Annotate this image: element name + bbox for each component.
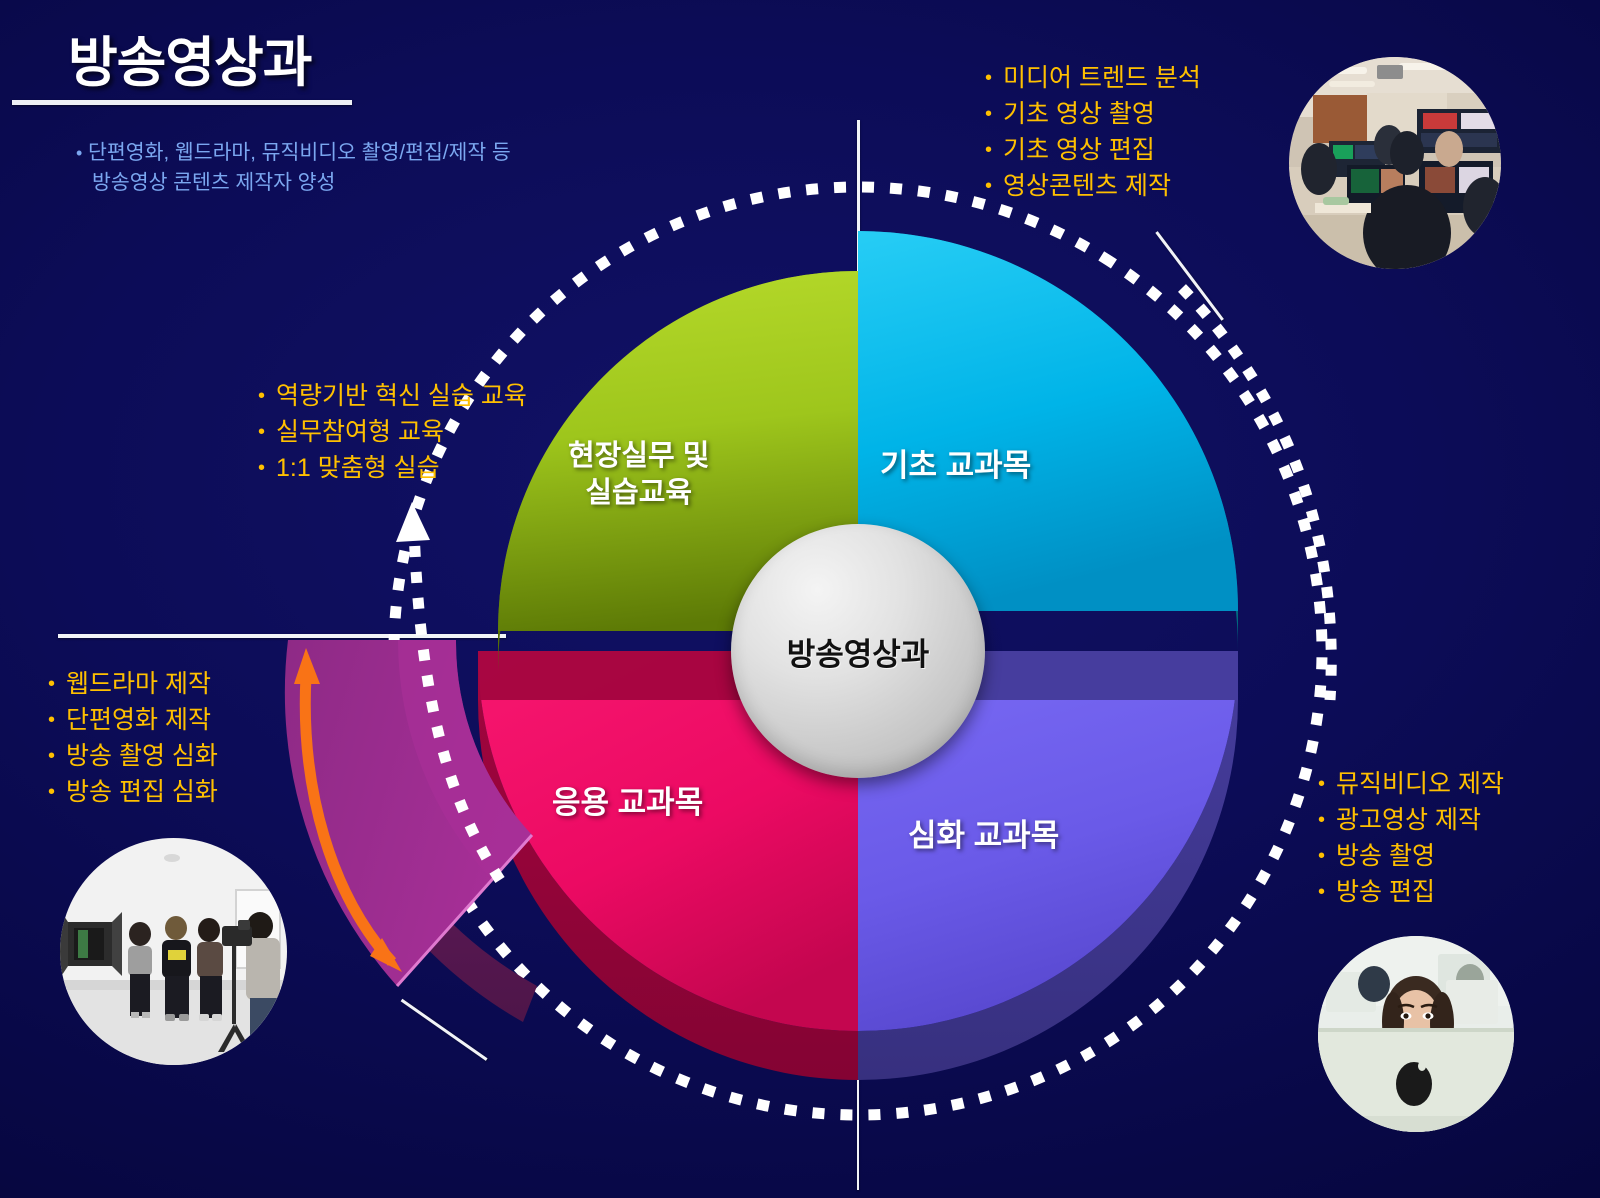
pie-center-hub: 방송영상과	[731, 524, 985, 778]
list-item: •방송 편집 심화	[48, 774, 218, 810]
bullet-icon: •	[985, 172, 1003, 201]
bullet-icon: •	[258, 454, 276, 483]
list-item: •광고영상 제작	[1318, 802, 1504, 838]
bullet-icon: •	[1318, 770, 1336, 799]
list-item: •방송 편집	[1318, 874, 1504, 910]
bullet-icon: •	[985, 64, 1003, 93]
bullet-icon: •	[48, 670, 66, 699]
list-item: •웹드라마 제작	[48, 666, 218, 702]
bullet-icon: •	[1318, 806, 1336, 835]
slice-label-field-line1: 현장실무 및	[568, 440, 709, 472]
bullet-icon: •	[1318, 842, 1336, 871]
bullet-icon: •	[1318, 878, 1336, 907]
list-item-label: 영상콘텐츠 제작	[1003, 172, 1171, 200]
list-item-label: 1:1 맞춤형 실습	[276, 454, 440, 482]
list-item-label: 방송 편집	[1336, 878, 1435, 906]
list-item: •미디어 트렌드 분석	[985, 60, 1201, 96]
slice-label-advanced: 심화 교과목	[908, 810, 1059, 855]
list-item: •기초 영상 편집	[985, 132, 1201, 168]
list-item-label: 역량기반 혁신 실습 교육	[276, 382, 527, 410]
bullet-list-advanced: •뮤직비디오 제작 •광고영상 제작 •방송 촬영 •방송 편집	[1318, 766, 1504, 910]
list-item-label: 광고영상 제작	[1336, 806, 1481, 834]
list-item: •영상콘텐츠 제작	[985, 168, 1201, 204]
editing-lab-photo	[1289, 57, 1501, 269]
list-item-label: 미디어 트렌드 분석	[1003, 64, 1201, 92]
list-item: •방송 촬영 심화	[48, 738, 218, 774]
studio-shoot-photo	[60, 838, 287, 1065]
editing-lab-photo-art	[1289, 57, 1501, 269]
list-item-label: 방송 촬영 심화	[66, 742, 218, 770]
studio-shoot-photo-art	[60, 838, 287, 1065]
list-item-label: 기초 영상 촬영	[1003, 100, 1155, 128]
bullet-list-field: •역량기반 혁신 실습 교육 •실무참여형 교육 •1:1 맞춤형 실습	[258, 378, 527, 486]
list-item-label: 웹드라마 제작	[66, 670, 211, 698]
list-item: •역량기반 혁신 실습 교육	[258, 378, 527, 414]
list-item: •실무참여형 교육	[258, 414, 527, 450]
list-item: •단편영화 제작	[48, 702, 218, 738]
list-item: •뮤직비디오 제작	[1318, 766, 1504, 802]
slide-canvas: 방송영상과 • 단편영화, 웹드라마, 뮤직비디오 촬영/편집/제작 등 방송영…	[0, 0, 1600, 1198]
bullet-icon: •	[985, 136, 1003, 165]
bullet-list-basic: •미디어 트렌드 분석 •기초 영상 촬영 •기초 영상 편집 •영상콘텐츠 제…	[985, 60, 1201, 204]
bullet-icon: •	[258, 382, 276, 411]
list-item-label: 방송 촬영	[1336, 842, 1435, 870]
list-item: •기초 영상 촬영	[985, 96, 1201, 132]
list-item: •1:1 맞춤형 실습	[258, 450, 527, 486]
slice-label-field-line2: 실습교육	[585, 477, 692, 509]
slice-label-basic: 기초 교과목	[880, 440, 1031, 485]
slice-label-applied: 응용 교과목	[552, 777, 703, 822]
list-item-label: 실무참여형 교육	[276, 418, 444, 446]
list-item: •방송 촬영	[1318, 838, 1504, 874]
bullet-icon: •	[48, 778, 66, 807]
bullet-list-applied: •웹드라마 제작 •단편영화 제작 •방송 촬영 심화 •방송 편집 심화	[48, 666, 218, 810]
list-item-label: 단편영화 제작	[66, 706, 211, 734]
bullet-icon: •	[258, 418, 276, 447]
hub-label: 방송영상과	[787, 629, 930, 674]
list-item-label: 뮤직비디오 제작	[1336, 770, 1504, 798]
imac-classroom-photo-art	[1318, 936, 1514, 1132]
list-item-label: 기초 영상 편집	[1003, 136, 1155, 164]
bullet-icon: •	[48, 706, 66, 735]
bullet-icon: •	[985, 100, 1003, 129]
list-item-label: 방송 편집 심화	[66, 778, 218, 806]
imac-classroom-photo	[1318, 936, 1514, 1132]
bullet-icon: •	[48, 742, 66, 771]
slice-label-field: 현장실무 및 실습교육	[568, 438, 709, 512]
